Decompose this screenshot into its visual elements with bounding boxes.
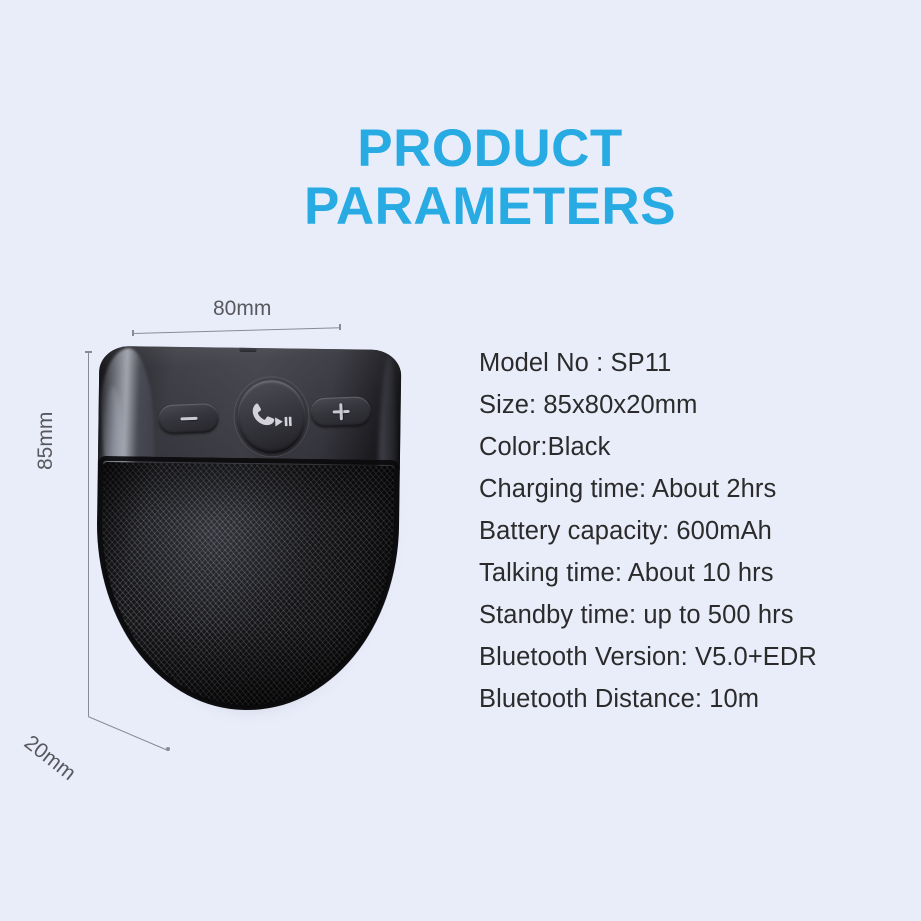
height-dimension-line: [88, 352, 89, 716]
spec-row-standby-time: Standby time: up to 500 hrs: [479, 594, 909, 636]
page-title-line-2: PARAMETERS: [290, 180, 690, 234]
page-title: PRODUCT PARAMETERS: [290, 122, 690, 234]
device-top-indicator-nub: [239, 346, 256, 352]
speaker-grille-shading: [98, 462, 395, 710]
width-dimension-label: 80mm: [213, 297, 271, 321]
spec-row-battery-capacity: Battery capacity: 600mAh: [479, 510, 909, 552]
specification-list: Model No : SP11 Size: 85x80x20mm Color:B…: [479, 342, 909, 720]
width-dimension-tick-left: [132, 330, 134, 336]
depth-dimension-label: 20mm: [19, 731, 80, 786]
speaker-mesh-grille: [98, 462, 395, 710]
height-dimension-tick-top: [85, 351, 92, 353]
spec-row-talking-time: Talking time: About 10 hrs: [479, 552, 909, 594]
page-title-line-1: PRODUCT: [290, 122, 690, 176]
spec-row-model-no: Model No : SP11: [479, 342, 909, 384]
plus-icon: [332, 403, 350, 421]
depth-dimension-tick-end: [166, 747, 170, 751]
spec-row-bluetooth-distance: Bluetooth Distance: 10m: [479, 678, 909, 720]
width-dimension-tick-right: [339, 324, 341, 330]
product-image: [94, 338, 405, 717]
spec-row-size: Size: 85x80x20mm: [479, 384, 909, 426]
spec-row-bluetooth-version: Bluetooth Version: V5.0+EDR: [479, 636, 909, 678]
minus-icon: [180, 410, 198, 428]
device-body: [94, 346, 401, 712]
height-dimension-label: 85mm: [34, 412, 58, 470]
spec-row-color: Color:Black: [479, 426, 909, 468]
depth-dimension-line: [88, 716, 168, 751]
width-dimension-line: [133, 327, 341, 334]
volume-down-button[interactable]: [158, 403, 219, 434]
call-play-pause-icon: [248, 396, 296, 438]
call-play-pause-button[interactable]: [236, 379, 307, 455]
spec-row-charging-time: Charging time: About 2hrs: [479, 468, 909, 510]
product-parameters-infographic: PRODUCT PARAMETERS 80mm 85mm 20mm: [0, 0, 921, 921]
volume-up-button[interactable]: [310, 396, 371, 427]
